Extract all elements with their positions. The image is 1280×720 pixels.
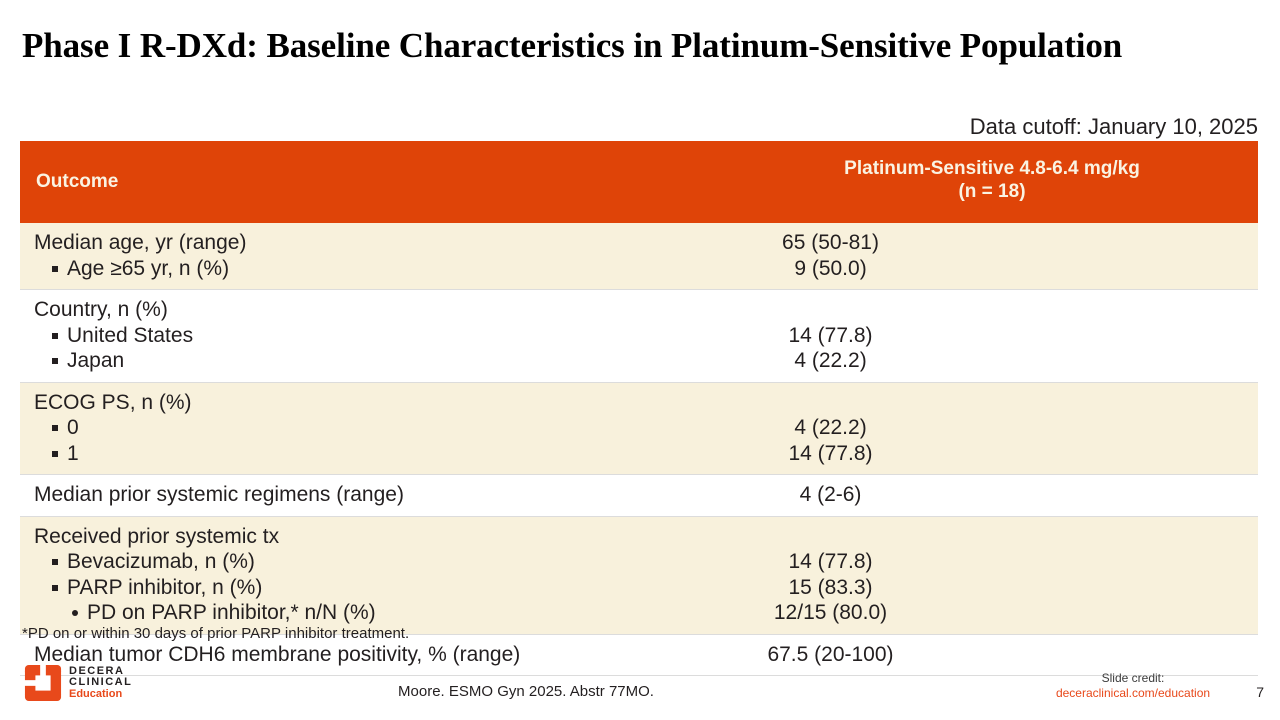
column-header-line1: Platinum-Sensitive 4.8-6.4 mg/kg (844, 158, 1140, 179)
row-value: 14 (77.8) (726, 549, 935, 575)
row-label: Japan (34, 348, 726, 374)
row-value: 15 (83.3) (726, 575, 935, 601)
slide-credit: Slide credit: deceraclinical.com/educati… (1028, 671, 1238, 701)
row-label-text: Median tumor CDH6 membrane positivity, %… (34, 643, 520, 666)
row-label: ECOG PS, n (%) (34, 390, 726, 416)
row-label: Age ≥65 yr, n (%) (34, 256, 726, 282)
title-block: Phase I R-DXd: Baseline Characteristics … (22, 26, 1258, 66)
citation: Moore. ESMO Gyn 2025. Abstr 77MO. (0, 683, 1052, 700)
row-label-text: PD on PARP inhibitor,* n/N (%) (87, 601, 376, 624)
square-bullet-icon (52, 333, 58, 339)
row-label: Country, n (%) (34, 297, 726, 323)
row-label-text: Bevacizumab, n (%) (67, 550, 255, 573)
table-row: Median prior systemic regimens (range)4 … (20, 475, 1258, 517)
row-label: Bevacizumab, n (%) (34, 549, 726, 575)
baseline-characteristics-table-wrap: Outcome Platinum-Sensitive 4.8-6.4 mg/kg… (20, 141, 1258, 676)
row-value-cell: 65 (50-81)9 (50.0) (726, 223, 1258, 290)
square-bullet-icon (52, 451, 58, 457)
page-number: 7 (1256, 684, 1264, 700)
row-label-text: Japan (67, 349, 124, 372)
row-value: 67.5 (20-100) (726, 642, 935, 668)
row-value: 9 (50.0) (726, 256, 935, 282)
row-value: 65 (50-81) (726, 230, 935, 256)
row-label: Median age, yr (range) (34, 230, 726, 256)
table-row: Country, n (%)United StatesJapan 14 (77.… (20, 290, 1258, 383)
slide-credit-url[interactable]: deceraclinical.com/education (1028, 686, 1238, 701)
row-value-cell: 4 (22.2)14 (77.8) (726, 382, 1258, 475)
row-label: Median tumor CDH6 membrane positivity, %… (34, 642, 726, 668)
slide-credit-label: Slide credit: (1028, 671, 1238, 686)
page-title: Phase I R-DXd: Baseline Characteristics … (22, 26, 1182, 66)
column-header-platinum-sensitive: Platinum-Sensitive 4.8-6.4 mg/kg (n = 18… (726, 141, 1258, 223)
row-value: 14 (77.8) (726, 441, 935, 467)
row-label: Received prior systemic tx (34, 524, 726, 550)
row-label-text: 1 (67, 442, 79, 465)
row-value-cell: 67.5 (20-100) (726, 634, 1258, 676)
row-value: 4 (22.2) (726, 415, 935, 441)
square-bullet-icon (52, 425, 58, 431)
row-label-cell: Median age, yr (range)Age ≥65 yr, n (%) (20, 223, 726, 290)
row-value (726, 524, 935, 550)
table-header-row: Outcome Platinum-Sensitive 4.8-6.4 mg/kg… (20, 141, 1258, 223)
row-value: 14 (77.8) (726, 323, 935, 349)
square-bullet-icon (52, 358, 58, 364)
table-body: Median age, yr (range)Age ≥65 yr, n (%)6… (20, 223, 1258, 676)
row-value (726, 390, 935, 416)
table-row: Median age, yr (range)Age ≥65 yr, n (%)6… (20, 223, 1258, 290)
row-label-text: Age ≥65 yr, n (%) (67, 257, 229, 280)
column-header-outcome: Outcome (20, 141, 726, 223)
row-label-cell: Median prior systemic regimens (range) (20, 475, 726, 517)
row-label-text: 0 (67, 416, 79, 439)
row-label-text: PARP inhibitor, n (%) (67, 576, 262, 599)
row-label-text: Received prior systemic tx (34, 525, 279, 548)
row-label-text: Median prior systemic regimens (range) (34, 483, 404, 506)
row-value: 4 (2-6) (726, 482, 935, 508)
row-label-cell: ECOG PS, n (%)01 (20, 382, 726, 475)
column-header-line2: (n = 18) (736, 181, 1248, 204)
footnote: *PD on or within 30 days of prior PARP i… (22, 625, 409, 642)
table-row: Received prior systemic txBevacizumab, n… (20, 516, 1258, 634)
row-label-text: Country, n (%) (34, 298, 168, 321)
row-label-text: ECOG PS, n (%) (34, 391, 192, 414)
row-label: 1 (34, 441, 726, 467)
row-value-cell: 4 (2-6) (726, 475, 1258, 517)
baseline-characteristics-table: Outcome Platinum-Sensitive 4.8-6.4 mg/kg… (20, 141, 1258, 676)
row-label: Median prior systemic regimens (range) (34, 482, 726, 508)
square-bullet-icon (52, 585, 58, 591)
row-label-text: Median age, yr (range) (34, 231, 246, 254)
square-bullet-icon (52, 559, 58, 565)
data-cutoff-label: Data cutoff: January 10, 2025 (970, 114, 1258, 140)
row-label-cell: Received prior systemic txBevacizumab, n… (20, 516, 726, 634)
round-bullet-icon (72, 610, 78, 616)
table-row: ECOG PS, n (%)01 4 (22.2)14 (77.8) (20, 382, 1258, 475)
row-value (726, 297, 935, 323)
row-label: United States (34, 323, 726, 349)
row-label-text: United States (67, 324, 193, 347)
row-value: 12/15 (80.0) (726, 600, 935, 626)
row-label: PD on PARP inhibitor,* n/N (%) (34, 600, 726, 626)
row-label-cell: Country, n (%)United StatesJapan (20, 290, 726, 383)
row-value-cell: 14 (77.8)15 (83.3)12/15 (80.0) (726, 516, 1258, 634)
row-label: PARP inhibitor, n (%) (34, 575, 726, 601)
row-value-cell: 14 (77.8)4 (22.2) (726, 290, 1258, 383)
square-bullet-icon (52, 266, 58, 272)
row-label: 0 (34, 415, 726, 441)
row-value: 4 (22.2) (726, 348, 935, 374)
table-header: Outcome Platinum-Sensitive 4.8-6.4 mg/kg… (20, 141, 1258, 223)
